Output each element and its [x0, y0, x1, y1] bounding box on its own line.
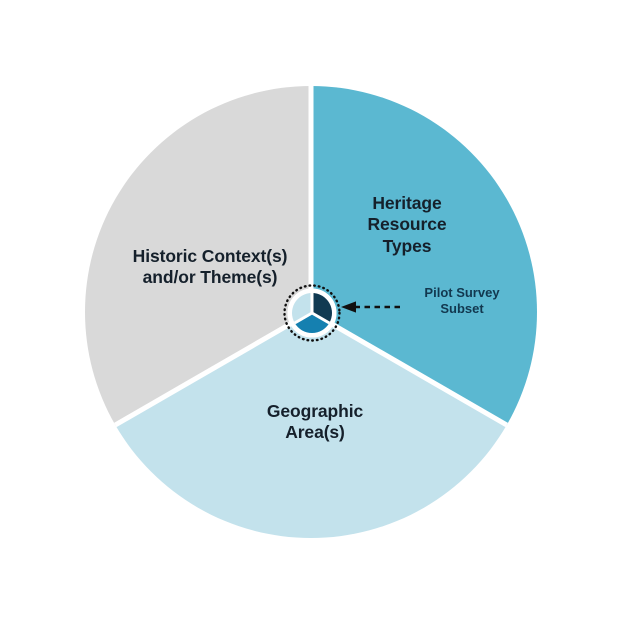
pie-label-geographic-areas: Geographic Area(s) — [225, 401, 405, 444]
pie-label-historic-contexts-themes: Historic Context(s) and/or Theme(s) — [104, 246, 316, 289]
annotation-label-pilot-survey-subset: Pilot Survey Subset — [403, 285, 521, 318]
diagram-canvas: Heritage Resource Types Historic Context… — [0, 0, 626, 626]
pie-diagram-svg — [0, 0, 626, 626]
pie-label-heritage-resource-types: Heritage Resource Types — [333, 193, 481, 257]
